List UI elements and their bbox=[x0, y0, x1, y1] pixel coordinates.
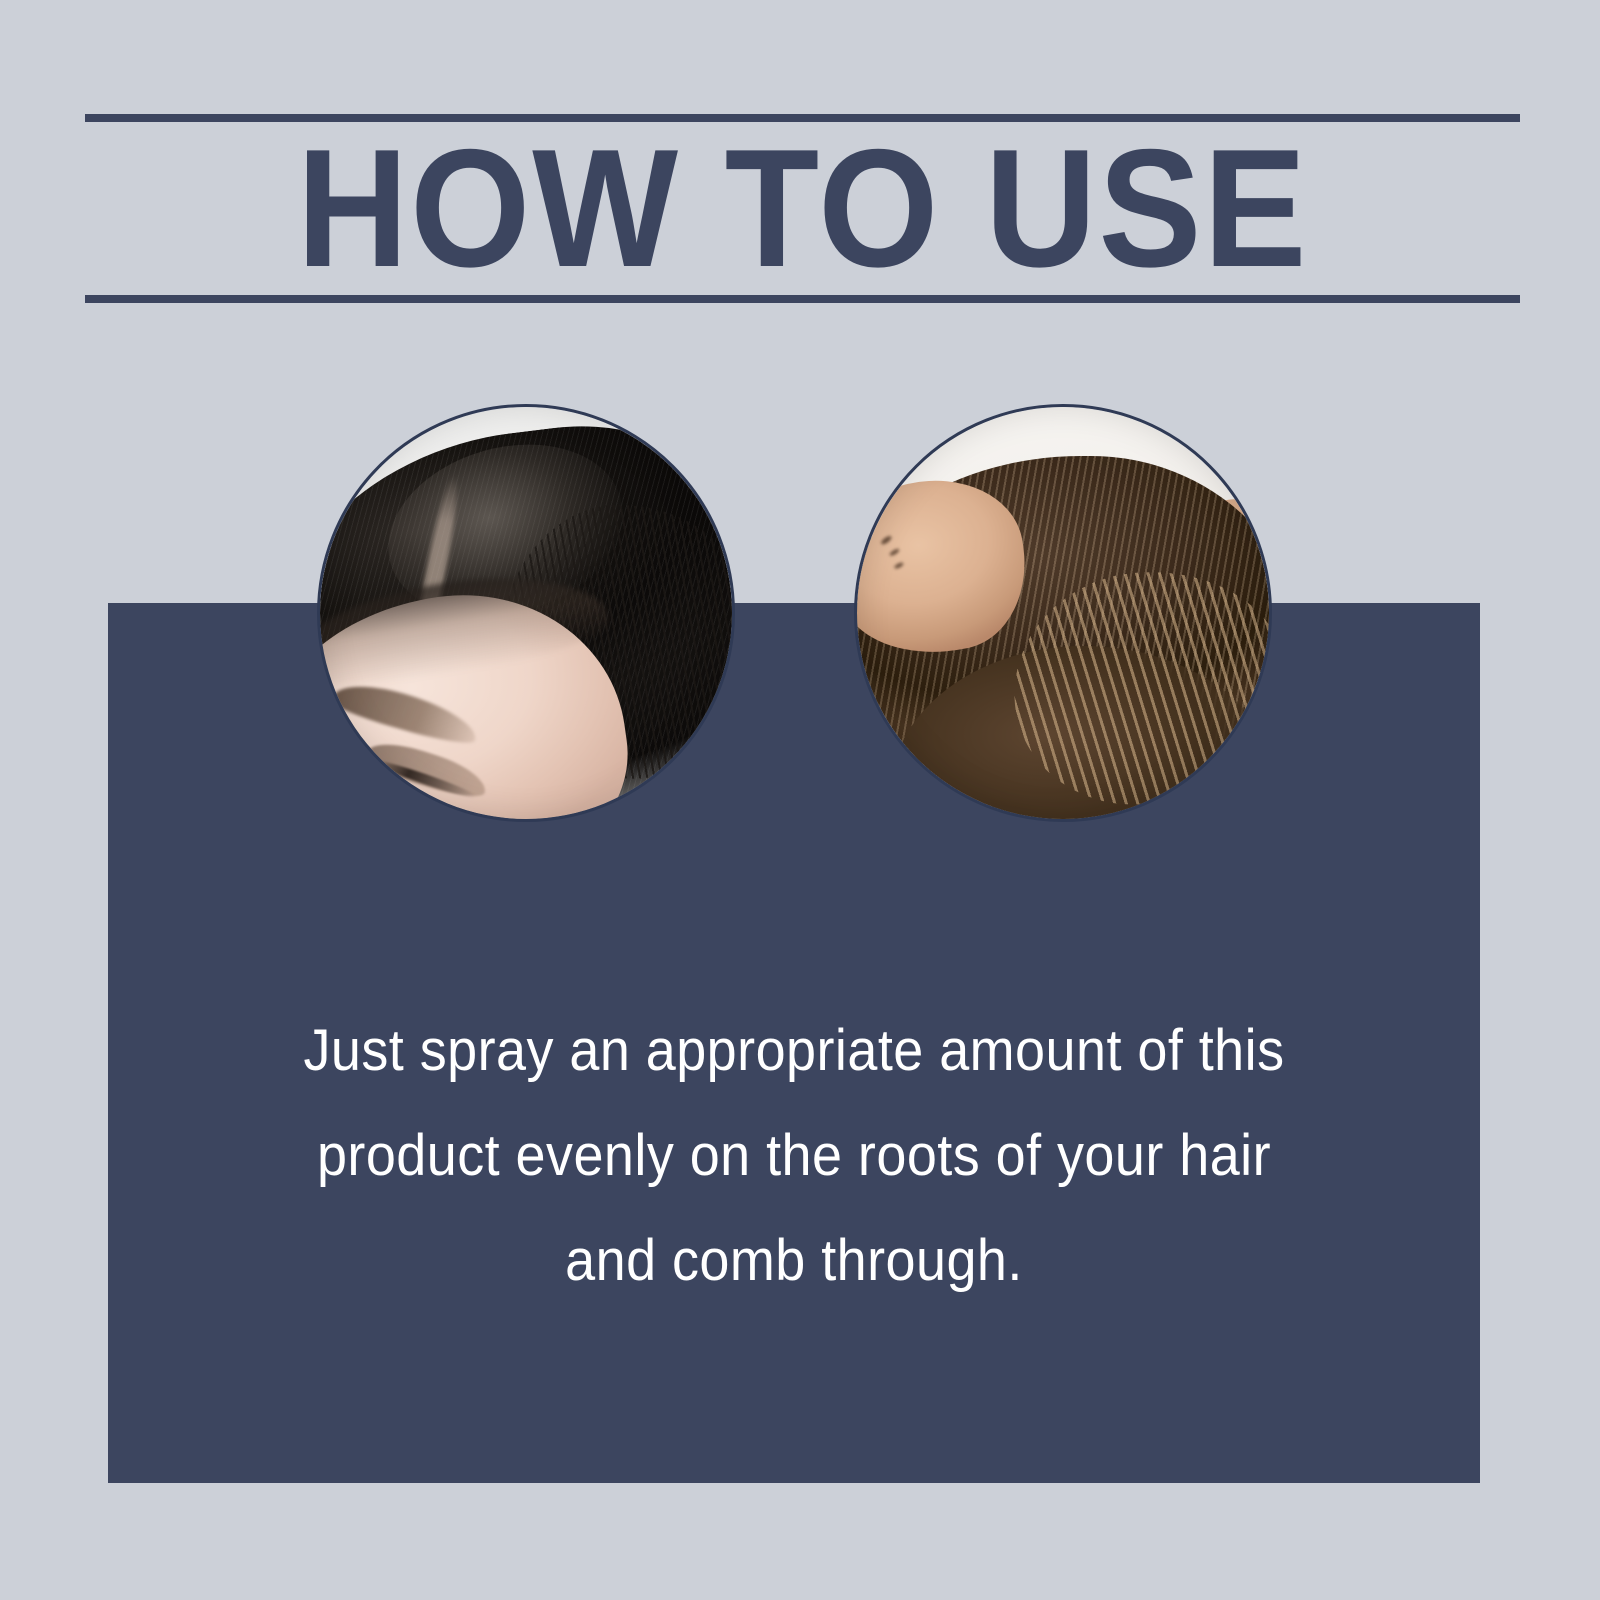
hand-through-hair-photo bbox=[857, 407, 1269, 819]
bottom-divider-rule bbox=[85, 295, 1520, 303]
hair-roots-photo bbox=[320, 407, 732, 819]
photo-circle-left bbox=[317, 404, 735, 822]
instruction-line: Just spray an appropriate amount of this bbox=[212, 998, 1376, 1103]
finger-gap bbox=[889, 548, 901, 558]
instruction-line: product evenly on the roots of your hair bbox=[212, 1103, 1376, 1208]
how-to-use-poster: HOW TO USE Just spray an appropriate amo… bbox=[0, 0, 1600, 1600]
page-title: HOW TO USE bbox=[142, 122, 1462, 295]
photo-circle-right bbox=[854, 404, 1272, 822]
instruction-panel: Just spray an appropriate amount of this… bbox=[108, 603, 1480, 1483]
finger-gap bbox=[894, 562, 905, 570]
instruction-text: Just spray an appropriate amount of this… bbox=[212, 998, 1376, 1313]
finger-gap bbox=[881, 535, 894, 546]
header-block: HOW TO USE bbox=[85, 114, 1520, 304]
instruction-line: and comb through. bbox=[212, 1208, 1376, 1313]
